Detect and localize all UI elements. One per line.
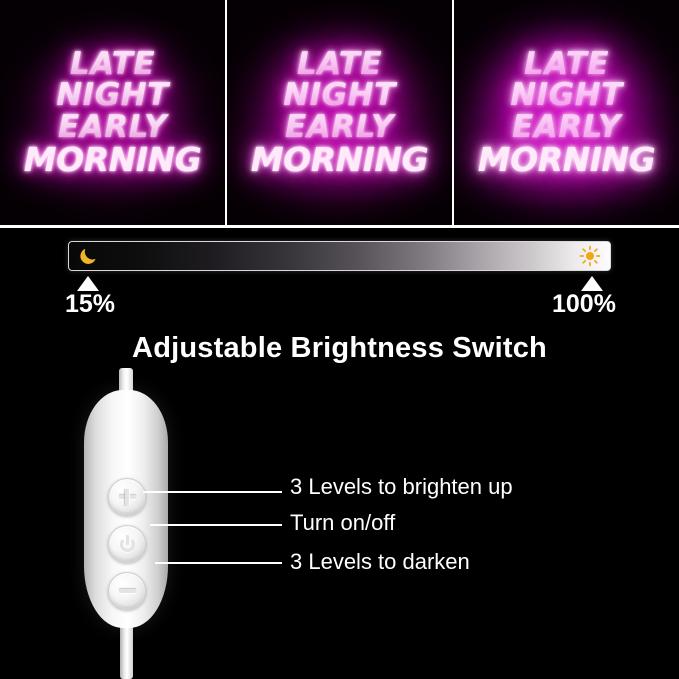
neon-sign-text: LATE NIGHT EARLY MORNING: [227, 48, 452, 176]
callout-brighten: 3 Levels to brighten up: [290, 474, 513, 500]
callout-power: Turn on/off: [290, 510, 395, 536]
switch-body: [84, 390, 168, 628]
neon-line-3: EARLY: [4, 111, 221, 143]
brightness-preview-panels: LATE NIGHT EARLY MORNING LATE NIGHT EARL…: [0, 0, 679, 225]
slider-marker-max: [581, 276, 603, 291]
neon-line-4: MORNING: [4, 143, 221, 177]
minus-icon: [109, 573, 145, 609]
neon-line-4: MORNING: [231, 143, 448, 177]
brightness-slider-track[interactable]: [68, 241, 611, 271]
darken-button[interactable]: [108, 572, 146, 610]
neon-line-2: NIGHT: [231, 80, 448, 112]
leader-line-power: [150, 524, 282, 526]
neon-line-1: LATE: [4, 48, 221, 80]
neon-line-1: LATE: [231, 48, 448, 80]
slider-marker-min: [77, 276, 99, 291]
neon-sign-text: LATE NIGHT EARLY MORNING: [0, 48, 225, 176]
power-icon: [109, 526, 145, 562]
leader-line-darken: [155, 562, 282, 564]
product-infographic: LATE NIGHT EARLY MORNING LATE NIGHT EARL…: [0, 0, 679, 679]
brightness-slider[interactable]: [68, 241, 611, 271]
brighten-button[interactable]: [108, 478, 146, 516]
neon-sign-text: LATE NIGHT EARLY MORNING: [454, 48, 679, 176]
brightness-min-label: 15%: [65, 290, 115, 319]
callout-darken: 3 Levels to darken: [290, 549, 470, 575]
neon-line-4: MORNING: [458, 143, 675, 177]
leader-line-brighten: [143, 491, 282, 493]
sun-icon: [579, 245, 601, 267]
neon-line-2: NIGHT: [458, 80, 675, 112]
brightness-max-label: 100%: [552, 290, 616, 319]
neon-line-3: EARLY: [231, 111, 448, 143]
neon-line-1: LATE: [458, 48, 675, 80]
plus-icon: [109, 479, 145, 515]
panel-brightness-low: LATE NIGHT EARLY MORNING: [0, 0, 225, 225]
panel-divider-line: [0, 225, 679, 228]
neon-line-3: EARLY: [458, 111, 675, 143]
neon-line-2: NIGHT: [4, 80, 221, 112]
moon-icon: [77, 245, 99, 267]
panel-brightness-high: LATE NIGHT EARLY MORNING: [454, 0, 679, 225]
power-button[interactable]: [108, 525, 146, 563]
panel-brightness-medium: LATE NIGHT EARLY MORNING: [227, 0, 452, 225]
page-title: Adjustable Brightness Switch: [0, 332, 679, 365]
